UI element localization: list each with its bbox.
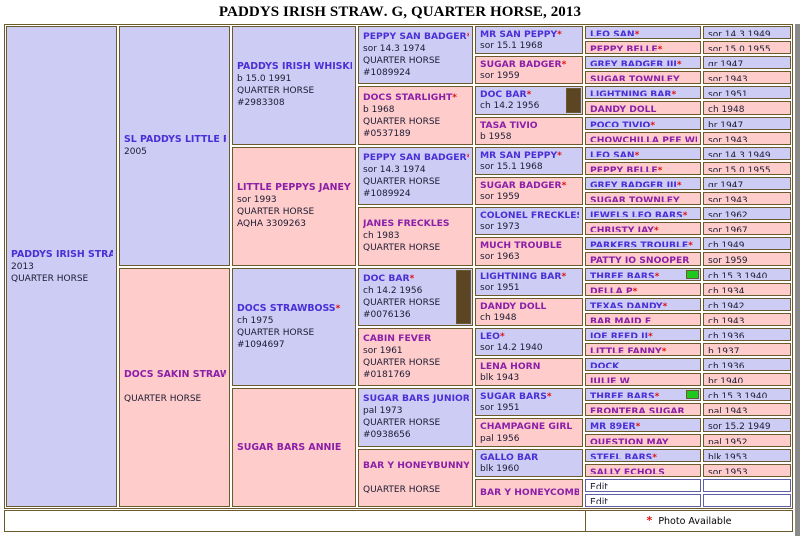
horse-name[interactable]: LENA HORN [480, 361, 579, 372]
pedigree-cell-gen5-name-29[interactable]: SALLY ECHOLS [585, 464, 701, 477]
generation-5-detail-column: sor 14.3 1949sor 15.0 1955gr 1947sor 194… [702, 25, 792, 508]
pedigree-cell-gen5-name-14[interactable]: PARKERS TROUBLE* [585, 237, 701, 250]
horse-detail: QUARTER HORSE [363, 484, 469, 496]
horse-name-text: MR 89ER [590, 421, 636, 428]
horse-name[interactable]: DOCK [590, 361, 697, 368]
horse-detail: sor 1962 [708, 210, 787, 217]
horse-detail: sor 14.2 1940 [480, 342, 579, 353]
pedigree-cell-gen2-0[interactable]: PADDYS IRISH WHISKEY*b 15.0 1991QUARTER … [232, 26, 356, 145]
pedigree-cell-gen0-0[interactable]: PADDYS IRISH STRAW2013QUARTER HORSE [6, 26, 117, 507]
horse-name-text: SL PADDYS LITTLE PEP [124, 134, 226, 145]
horse-detail: b 1937 [708, 346, 787, 353]
horse-name[interactable]: JEWELS LEO BARS* [590, 210, 697, 217]
horse-detail: QUARTER HORSE [11, 273, 113, 285]
pedigree-cell-gen5-name-9[interactable]: PEPPY BELLE* [585, 162, 701, 175]
chart-footer: * Photo Available [4, 510, 793, 532]
generation-4-column: MR SAN PEPPY*sor 15.1 1968SUGAR BADGER*s… [474, 25, 584, 508]
pedigree-cell-gen5-name-18[interactable]: TEXAS DANDY* [585, 298, 701, 311]
horse-detail: ch 14.2 1956 [363, 285, 469, 297]
pedigree-cell-gen3-3[interactable]: JANES FRECKLESch 1983QUARTER HORSE [358, 207, 473, 265]
horse-detail: #1089924 [363, 67, 469, 79]
horse-name[interactable]: DANDY DOLL [480, 301, 579, 312]
pedigree-cell-gen5-name-8[interactable]: LEO SAN* [585, 147, 701, 160]
horse-detail: #2983308 [237, 97, 352, 109]
pedigree-cell-gen5-name-17[interactable]: DELLA P* [585, 283, 701, 296]
photo-available-icon: * [650, 121, 655, 127]
horse-name-text: PEPPY SAN BADGER [363, 152, 467, 163]
photo-available-icon: * [662, 347, 667, 353]
horse-name[interactable]: JULIE W [590, 376, 697, 383]
horse-detail: blk 1943 [480, 372, 579, 383]
horse-name-text: COLONEL FRECKLES [480, 210, 579, 221]
horse-name[interactable]: PADDYS IRISH WHISKEY* [237, 61, 352, 73]
horse-name-text: DANDY DOLL [590, 104, 656, 111]
horse-name[interactable]: SUGAR BARS* [480, 391, 579, 402]
horse-name-text: CHRISTY JAY [590, 225, 654, 232]
pedigree-cell-gen5-detail-8: sor 14.3 1949 [703, 147, 791, 160]
pedigree-cell-gen5-name-24[interactable]: THREE BARS* [585, 388, 701, 401]
edit-link[interactable]: Edit [590, 482, 697, 489]
photo-available-icon: * [562, 272, 567, 282]
pedigree-cell-gen5-detail-12: sor 1962 [703, 207, 791, 220]
horse-name-text: LIGHTNING BAR [480, 271, 562, 282]
pedigree-cell-gen5-name-0[interactable]: LEO SAN* [585, 26, 701, 39]
horse-detail: 2005 [124, 146, 226, 158]
horse-name[interactable]: SL PADDYS LITTLE PEP [124, 134, 226, 146]
horse-name[interactable]: CHAMPAGNE GIRL [480, 421, 579, 432]
pedigree-cell-gen5-name-20[interactable]: JOE REED II* [585, 328, 701, 341]
horse-detail: sor 14.3 1949 [708, 29, 787, 36]
horse-detail: QUARTER HORSE [363, 242, 469, 254]
horse-detail: ch 1948 [480, 312, 579, 323]
pedigree-cell-gen4-9[interactable]: DANDY DOLLch 1948 [475, 298, 583, 326]
horse-name-text: TEXAS DANDY [590, 301, 663, 308]
pedigree-cell-gen5-name-4[interactable]: LIGHTNING BAR* [585, 86, 701, 99]
horse-name[interactable]: DOCS STRAWBOSS* [237, 303, 352, 315]
pedigree-cell-gen3-5[interactable]: CABIN FEVERsor 1961QUARTER HORSE#0181769 [358, 328, 473, 386]
horse-detail: QUARTER HORSE [363, 297, 469, 309]
horse-detail: #0076136 [363, 309, 469, 321]
pedigree-cell-gen5-name-6[interactable]: POCO TIVIO* [585, 117, 701, 130]
pedigree-chart: PADDYS IRISH STRAW2013QUARTER HORSE SL P… [4, 24, 793, 509]
pedigree-cell-gen5-name-19[interactable]: BAR MAID F [585, 313, 701, 326]
pedigree-cell-gen4-13[interactable]: CHAMPAGNE GIRLpal 1956 [475, 418, 583, 446]
pedigree-cell-gen5-name-1[interactable]: PEPPY BELLE* [585, 41, 701, 54]
horse-name-text: JULIE W [590, 376, 630, 383]
horse-detail: sor 1963 [480, 251, 579, 262]
horse-name[interactable]: SUGAR TOWNLEY [590, 74, 697, 81]
horse-name-text: SUGAR BARS [480, 391, 547, 402]
pedigree-cell-gen5-detail-6: br 1947 [703, 117, 791, 130]
horse-name[interactable]: PEPPY SAN BADGER* [363, 31, 469, 43]
horse-name[interactable]: LEO* [480, 331, 579, 342]
photo-available-icon: * [452, 93, 457, 103]
edit-link[interactable]: Edit [590, 497, 697, 504]
generation-3-column: PEPPY SAN BADGER*sor 14.3 1974QUARTER HO… [357, 25, 474, 508]
pedigree-cell-gen4-10[interactable]: LEO*sor 14.2 1940 [475, 328, 583, 356]
horse-detail: pal 1973 [363, 405, 469, 417]
pedigree-cell-gen3-7[interactable]: BAR Y HONEYBUNNY QUARTER HORSE [358, 449, 473, 507]
horse-name[interactable]: SUGAR BARS JUNIOR* [363, 393, 469, 405]
horse-name[interactable]: SUGAR BADGER* [480, 59, 579, 70]
page-title: PADDYS IRISH STRAW . G, QUARTER HORSE, 2… [0, 0, 800, 24]
horse-name-text: PADDYS IRISH STRAW [11, 249, 113, 260]
pedigree-cell-gen1-1[interactable]: DOCS SAKIN STRAW QUARTER HORSE [119, 268, 230, 508]
horse-detail: sor 14.3 1974 [363, 43, 469, 55]
green-marker-icon[interactable] [686, 270, 699, 279]
horse-name-text: FRONTERA SUGAR [590, 406, 685, 413]
horse-name[interactable]: PARKERS TROUBLE* [590, 240, 697, 247]
horse-name-text: BAR Y HONEYBUNNY [363, 460, 469, 471]
pedigree-cell-gen5-detail-30 [703, 479, 791, 492]
horse-name[interactable]: PADDYS IRISH STRAW [11, 249, 113, 261]
horse-name[interactable]: JOE REED II* [590, 331, 697, 338]
pedigree-cell-gen5-name-22[interactable]: DOCK [585, 358, 701, 371]
pedigree-cell-gen5-detail-20: ch 1936 [703, 328, 791, 341]
pedigree-cell-gen4-7[interactable]: MUCH TROUBLEsor 1963 [475, 237, 583, 265]
pedigree-cell-gen4-0[interactable]: MR SAN PEPPY*sor 15.1 1968 [475, 26, 583, 54]
horse-name[interactable]: MR SAN PEPPY* [480, 29, 579, 40]
pedigree-cell-gen4-4[interactable]: MR SAN PEPPY*sor 15.1 1968 [475, 147, 583, 175]
horse-name[interactable]: MR 89ER* [590, 421, 697, 428]
photo-available-icon: * [677, 60, 682, 66]
photo-available-icon: * [557, 30, 562, 40]
horse-name-text: TASA TIVIO [480, 120, 538, 131]
pedigree-cell-gen1-0[interactable]: SL PADDYS LITTLE PEP2005 [119, 26, 230, 266]
pedigree-cell-gen5-name-27[interactable]: QUESTION MAY [585, 434, 701, 447]
photo-available-icon: * [557, 151, 562, 161]
horse-detail: ch 1948 [708, 104, 787, 111]
photo-available-icon: * [655, 392, 660, 398]
horse-name[interactable]: CABIN FEVER [363, 333, 469, 345]
horse-detail: #0537189 [363, 128, 469, 140]
horse-detail: ch 1943 [708, 316, 787, 323]
horse-detail: sor 14.3 1974 [363, 164, 469, 176]
horse-detail: br 1940 [708, 376, 787, 383]
horse-detail: b 1958 [480, 131, 579, 142]
horse-detail: sor 1951 [480, 282, 579, 293]
photo-available-icon: * [683, 211, 688, 217]
horse-name[interactable]: CHOWCHILLA PEE WEE [590, 135, 697, 142]
horse-name[interactable]: SUGAR TOWNLEY [590, 195, 697, 202]
horse-name[interactable]: BAR Y HONEYCOMB [480, 487, 579, 499]
photo-legend: * Photo Available [585, 510, 793, 532]
horse-name[interactable]: LITTLE PEPPYS JANEY [237, 182, 352, 194]
horse-name[interactable]: JANES FRECKLES [363, 218, 469, 230]
pedigree-cell-gen5-detail-27: pal 1952 [703, 434, 791, 447]
pedigree-cell-gen5-name-25[interactable]: FRONTERA SUGAR [585, 403, 701, 416]
horse-name-text: GALLO BAR [480, 452, 538, 463]
horse-detail: pal 1943 [708, 406, 787, 413]
pedigree-cell-gen5-name-12[interactable]: JEWELS LEO BARS* [585, 207, 701, 220]
horse-name[interactable]: DANDY DOLL [590, 104, 697, 111]
horse-detail: blk 1960 [480, 463, 579, 474]
horse-detail: sor 15.0 1955 [708, 165, 787, 172]
horse-detail: sor 15.1 1968 [480, 161, 579, 172]
pedigree-cell-gen5-detail-13: sor 1967 [703, 222, 791, 235]
horse-name[interactable]: THREE BARS* [590, 271, 697, 278]
horse-name-text: LITTLE PEPPYS JANEY [237, 182, 351, 193]
horse-name[interactable]: CHRISTY JAY* [590, 225, 697, 232]
horse-detail: QUARTER HORSE [237, 327, 352, 339]
pedigree-cell-gen5-name-7[interactable]: CHOWCHILLA PEE WEE [585, 132, 701, 145]
pedigree-cell-gen5-name-23[interactable]: JULIE W [585, 373, 701, 386]
horse-detail: sor 15.1 1968 [480, 40, 579, 51]
horse-detail: #0938656 [363, 429, 469, 441]
horse-detail: ch 1936 [708, 331, 787, 338]
photo-available-icon: * [467, 153, 469, 163]
pedigree-cell-gen5-detail-7: sor 1943 [703, 132, 791, 145]
horse-name[interactable]: LIGHTNING BAR* [480, 271, 579, 282]
horse-detail: QUARTER HORSE [363, 357, 469, 369]
horse-name[interactable]: GREY BADGER III* [590, 59, 697, 66]
horse-detail: ch 14.2 1956 [480, 100, 579, 111]
pedigree-cell-gen5-detail-15: sor 1959 [703, 252, 791, 265]
vertical-scrollbar[interactable] [795, 24, 800, 536]
horse-detail: ch 15.3 1940 [708, 271, 787, 278]
pedigree-cell-gen5-detail-31 [703, 494, 791, 507]
horse-name[interactable]: COLONEL FRECKLES* [480, 210, 579, 221]
horse-detail: sor 1967 [708, 225, 787, 232]
pedigree-cell-gen4-6[interactable]: COLONEL FRECKLES*sor 1973 [475, 207, 583, 235]
pedigree-cell-gen5-detail-22: ch 1936 [703, 358, 791, 371]
horse-name-text: PEPPY BELLE [590, 44, 658, 51]
horse-name[interactable]: THREE BARS* [590, 391, 697, 398]
horse-name-text: JEWELS LEO BARS [590, 210, 683, 217]
pedigree-cell-gen4-8[interactable]: LIGHTNING BAR*sor 1951 [475, 268, 583, 296]
photo-available-icon: * [688, 241, 693, 247]
horse-name[interactable]: FRONTERA SUGAR [590, 406, 697, 413]
pedigree-cell-gen2-3[interactable]: SUGAR BARS ANNIE [232, 388, 356, 507]
pedigree-cell-gen3-2[interactable]: PEPPY SAN BADGER*sor 14.3 1974QUARTER HO… [358, 147, 473, 205]
generation-0-column: PADDYS IRISH STRAW2013QUARTER HORSE [5, 25, 118, 508]
horse-detail: sor 14.3 1949 [708, 150, 787, 157]
photo-available-icon: * [410, 274, 415, 284]
photo-available-icon: * [633, 287, 638, 293]
photo-available-icon: * [658, 45, 663, 51]
horse-detail: QUARTER HORSE [363, 55, 469, 67]
horse-detail: ch 1942 [708, 301, 787, 308]
pedigree-cell-gen5-name-26[interactable]: MR 89ER* [585, 418, 701, 431]
pedigree-cell-gen5-detail-16: ch 15.3 1940 [703, 268, 791, 281]
horse-name[interactable]: GALLO BAR [480, 452, 579, 463]
pedigree-cell-gen5-name-15[interactable]: PATTY JO SNOOPER [585, 252, 701, 265]
photo-available-icon: * [677, 181, 682, 187]
pedigree-cell-gen5-name-31[interactable]: Edit [585, 494, 701, 507]
horse-name-text: PEPPY BELLE [590, 165, 658, 172]
horse-detail: ch 1936 [708, 361, 787, 368]
horse-name[interactable]: PATTY JO SNOOPER [590, 255, 697, 262]
horse-name-text: JANES FRECKLES [363, 218, 450, 229]
horse-name[interactable]: TASA TIVIO [480, 120, 579, 131]
pedigree-cell-gen4-12[interactable]: SUGAR BARS*sor 1951 [475, 388, 583, 416]
horse-name-text: GREY BADGER III [590, 180, 677, 187]
photo-available-icon: * [336, 304, 341, 314]
photo-available-icon: * [654, 226, 659, 232]
pedigree-cell-gen5-detail-3: sor 1943 [703, 71, 791, 84]
photo-thumbnail-icon[interactable] [566, 88, 581, 112]
horse-detail: sor 1959 [480, 70, 579, 81]
pedigree-cell-gen5-detail-14: ch 1949 [703, 237, 791, 250]
photo-available-icon: * [467, 32, 469, 42]
green-marker-icon[interactable] [686, 390, 699, 399]
horse-name-text: LITTLE FANNY [590, 346, 662, 353]
horse-detail: pal 1952 [708, 437, 787, 444]
page-title-rest: . G, QUARTER HORSE, 2013 [384, 4, 581, 21]
photo-thumbnail-icon[interactable] [456, 270, 471, 324]
horse-name-text: DOCS STRAWBOSS [237, 303, 336, 314]
horse-name[interactable]: LEO SAN* [590, 29, 697, 36]
horse-detail: ch 1975 [237, 315, 352, 327]
horse-name-text: BAR Y HONEYCOMB [480, 487, 579, 498]
horse-detail: QUARTER HORSE [237, 85, 352, 97]
pedigree-cell-gen4-11[interactable]: LENA HORNblk 1943 [475, 358, 583, 386]
horse-detail: #0181769 [363, 369, 469, 381]
horse-name-text: DOCK [590, 361, 619, 368]
horse-name[interactable]: POCO TIVIO* [590, 120, 697, 127]
horse-name-text: LENA HORN [480, 361, 540, 372]
photo-available-icon: * [562, 60, 567, 70]
horse-name[interactable]: MR SAN PEPPY* [480, 150, 579, 161]
pedigree-cell-gen4-5[interactable]: SUGAR BADGER*sor 1959 [475, 177, 583, 205]
pedigree-cell-gen3-4[interactable]: DOC BAR*ch 14.2 1956QUARTER HORSE#007613… [358, 268, 473, 326]
horse-name[interactable]: GREY BADGER III* [590, 180, 697, 187]
horse-name-text: CHAMPAGNE GIRL [480, 421, 572, 432]
horse-name[interactable]: TEXAS DANDY* [590, 301, 697, 308]
pedigree-cell-gen5-detail-5: ch 1948 [703, 101, 791, 114]
pedigree-cell-gen5-detail-9: sor 15.0 1955 [703, 162, 791, 175]
horse-detail: sor 1951 [480, 402, 579, 413]
horse-detail: br 1947 [708, 120, 787, 127]
generation-1-column: SL PADDYS LITTLE PEP2005DOCS SAKIN STRAW… [118, 25, 231, 508]
horse-name[interactable]: DELLA P* [590, 286, 697, 293]
pedigree-cell-gen5-name-28[interactable]: STEEL BARS* [585, 449, 701, 462]
pedigree-cell-gen5-detail-4: sor 1951 [703, 86, 791, 99]
horse-detail: b 15.0 1991 [237, 73, 352, 85]
pedigree-cell-gen5-name-13[interactable]: CHRISTY JAY* [585, 222, 701, 235]
pedigree-cell-gen3-6[interactable]: SUGAR BARS JUNIOR*pal 1973QUARTER HORSE#… [358, 388, 473, 446]
pedigree-cell-gen5-detail-2: gr 1947 [703, 56, 791, 69]
horse-name[interactable]: STEEL BARS* [590, 452, 697, 459]
horse-name-text: PADDYS IRISH WHISKEY [237, 61, 352, 72]
pedigree-cell-gen5-name-3[interactable]: SUGAR TOWNLEY [585, 71, 701, 84]
pedigree-cell-gen5-detail-23: br 1940 [703, 373, 791, 386]
horse-name-text: SUGAR TOWNLEY [590, 74, 680, 81]
pedigree-cell-gen3-0[interactable]: PEPPY SAN BADGER*sor 14.3 1974QUARTER HO… [358, 26, 473, 84]
pedigree-cell-gen5-name-11[interactable]: SUGAR TOWNLEY [585, 192, 701, 205]
horse-name-text: THREE BARS [590, 391, 655, 398]
horse-name[interactable]: LITTLE FANNY* [590, 346, 697, 353]
horse-name[interactable]: DOCS STARLIGHT* [363, 92, 469, 104]
photo-available-icon: * [658, 166, 663, 172]
horse-name[interactable]: BAR MAID F [590, 316, 697, 323]
horse-name-text: SUGAR TOWNLEY [590, 195, 680, 202]
horse-name-text: GREY BADGER III [590, 59, 677, 66]
horse-detail: QUARTER HORSE [363, 417, 469, 429]
horse-detail: QUARTER HORSE [124, 393, 226, 405]
generation-5-column: LEO SAN*PEPPY BELLE*GREY BADGER III*SUGA… [584, 25, 702, 508]
pedigree-cell-gen5-name-5[interactable]: DANDY DOLL [585, 101, 701, 114]
horse-detail [363, 472, 469, 484]
horse-name[interactable]: SUGAR BARS ANNIE [237, 442, 352, 454]
horse-detail [124, 381, 226, 393]
photo-available-icon: * [635, 30, 640, 36]
horse-name[interactable]: DOCS SAKIN STRAW [124, 369, 226, 381]
horse-name[interactable]: QUESTION MAY [590, 437, 697, 444]
pedigree-cell-gen5-name-16[interactable]: THREE BARS* [585, 268, 701, 281]
horse-name[interactable]: BAR Y HONEYBUNNY [363, 460, 469, 472]
horse-detail: sor 15.0 1955 [708, 44, 787, 51]
pedigree-cell-gen5-name-21[interactable]: LITTLE FANNY* [585, 343, 701, 356]
photo-available-icon: * [500, 332, 505, 342]
photo-available-icon: * [636, 422, 641, 428]
photo-available-icon: * [652, 453, 657, 459]
page-title-horse: PADDYS IRISH STRAW [219, 4, 384, 21]
horse-name-text: DELLA P [590, 286, 633, 293]
generation-2-column: PADDYS IRISH WHISKEY*b 15.0 1991QUARTER … [231, 25, 357, 508]
pedigree-cell-gen5-name-10[interactable]: GREY BADGER III* [585, 177, 701, 190]
pedigree-cell-gen4-1[interactable]: SUGAR BADGER*sor 1959 [475, 56, 583, 84]
pedigree-cell-gen5-detail-29: sor 1953 [703, 464, 791, 477]
pedigree-cell-gen5-name-30[interactable]: Edit [585, 479, 701, 492]
pedigree-cell-gen4-3[interactable]: TASA TIVIOb 1958 [475, 117, 583, 145]
horse-name[interactable]: PEPPY SAN BADGER* [363, 152, 469, 164]
horse-detail: QUARTER HORSE [363, 116, 469, 128]
horse-detail: sor 1959 [708, 255, 787, 262]
horse-name-text: DOC BAR [363, 273, 410, 284]
horse-name-text: LEO [480, 331, 500, 342]
horse-detail: sor 1993 [237, 194, 352, 206]
horse-detail: sor 1943 [708, 135, 787, 142]
pedigree-cell-gen5-detail-17: ch 1934 [703, 283, 791, 296]
horse-name-text: SUGAR BADGER [480, 59, 562, 70]
horse-name-text: DOCS STARLIGHT [363, 92, 452, 103]
horse-detail: sor 1953 [708, 467, 787, 474]
horse-name[interactable]: LEO SAN* [590, 150, 697, 157]
pedigree-cell-gen2-2[interactable]: DOCS STRAWBOSS*ch 1975QUARTER HORSE#1094… [232, 268, 356, 387]
pedigree-cell-gen4-2[interactable]: DOC BAR*ch 14.2 1956 [475, 86, 583, 114]
horse-detail: sor 1973 [480, 221, 579, 232]
pedigree-cell-gen2-1[interactable]: LITTLE PEPPYS JANEYsor 1993QUARTER HORSE… [232, 147, 356, 266]
horse-name[interactable]: DOC BAR* [363, 273, 469, 285]
horse-name[interactable]: LIGHTNING BAR* [590, 89, 697, 96]
horse-name[interactable]: PEPPY BELLE* [590, 44, 697, 51]
photo-available-icon: * [672, 90, 677, 96]
horse-name-text: LEO SAN [590, 150, 635, 157]
horse-name[interactable]: SALLY ECHOLS [590, 467, 697, 474]
photo-available-icon: * [655, 272, 660, 278]
horse-detail: gr 1947 [708, 59, 787, 66]
horse-detail: sor 1959 [480, 191, 579, 202]
horse-detail: sor 1943 [708, 74, 787, 81]
horse-detail: sor 1943 [708, 195, 787, 202]
horse-name[interactable]: PEPPY BELLE* [590, 165, 697, 172]
pedigree-cell-gen5-name-2[interactable]: GREY BADGER III* [585, 56, 701, 69]
horse-name-text: LEO SAN [590, 29, 635, 36]
pedigree-cell-gen4-14[interactable]: GALLO BARblk 1960 [475, 449, 583, 477]
horse-detail: sor 1951 [708, 89, 787, 96]
pedigree-cell-gen4-15[interactable]: BAR Y HONEYCOMB [475, 479, 583, 507]
horse-name[interactable]: DOC BAR* [480, 89, 579, 100]
photo-available-icon: * [647, 517, 653, 525]
horse-name-text: MUCH TROUBLE [480, 240, 562, 251]
horse-name[interactable]: SUGAR BADGER* [480, 180, 579, 191]
pedigree-cell-gen5-detail-18: ch 1942 [703, 298, 791, 311]
horse-name-text: MR SAN PEPPY [480, 150, 557, 161]
horse-name[interactable]: MUCH TROUBLE [480, 240, 579, 251]
pedigree-cell-gen3-1[interactable]: DOCS STARLIGHT*b 1968QUARTER HORSE#05371… [358, 86, 473, 144]
pedigree-cell-gen5-detail-11: sor 1943 [703, 192, 791, 205]
